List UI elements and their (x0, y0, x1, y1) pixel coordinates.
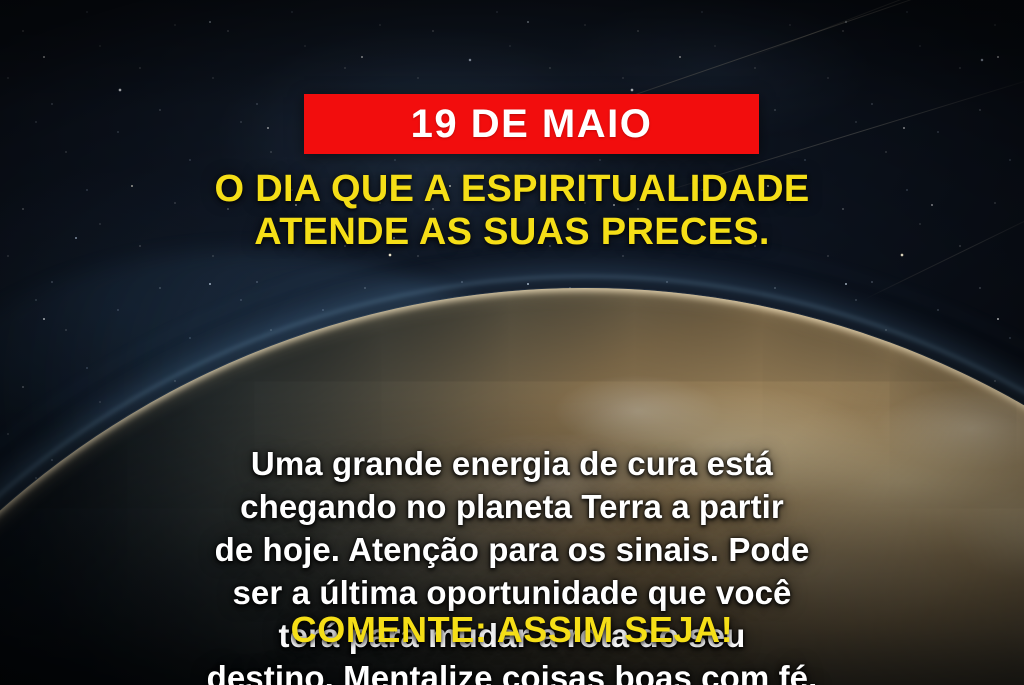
headline: O DIA QUE A ESPIRITUALIDADE ATENDE AS SU… (0, 168, 1024, 253)
headline-line-1: O DIA QUE A ESPIRITUALIDADE (48, 168, 976, 211)
date-banner: 19 DE MAIO (304, 94, 759, 154)
body-line-6: destino. Mentalize coisas boas com fé. (40, 657, 984, 685)
body-line-1: Uma grande energia de cura está (40, 443, 984, 486)
date-banner-label: 19 DE MAIO (411, 104, 653, 144)
body-line-2: chegando no planeta Terra a partir (40, 486, 984, 529)
headline-line-2: ATENDE AS SUAS PRECES. (48, 211, 976, 254)
call-to-action-label: COMENTE: ASSIM SEJA! (291, 609, 734, 650)
poster-canvas: 19 DE MAIO O DIA QUE A ESPIRITUALIDADE A… (0, 0, 1024, 685)
call-to-action: COMENTE: ASSIM SEJA! (0, 612, 1024, 648)
poster-content: 19 DE MAIO O DIA QUE A ESPIRITUALIDADE A… (0, 0, 1024, 685)
body-line-3: de hoje. Atenção para os sinais. Pode (40, 529, 984, 572)
